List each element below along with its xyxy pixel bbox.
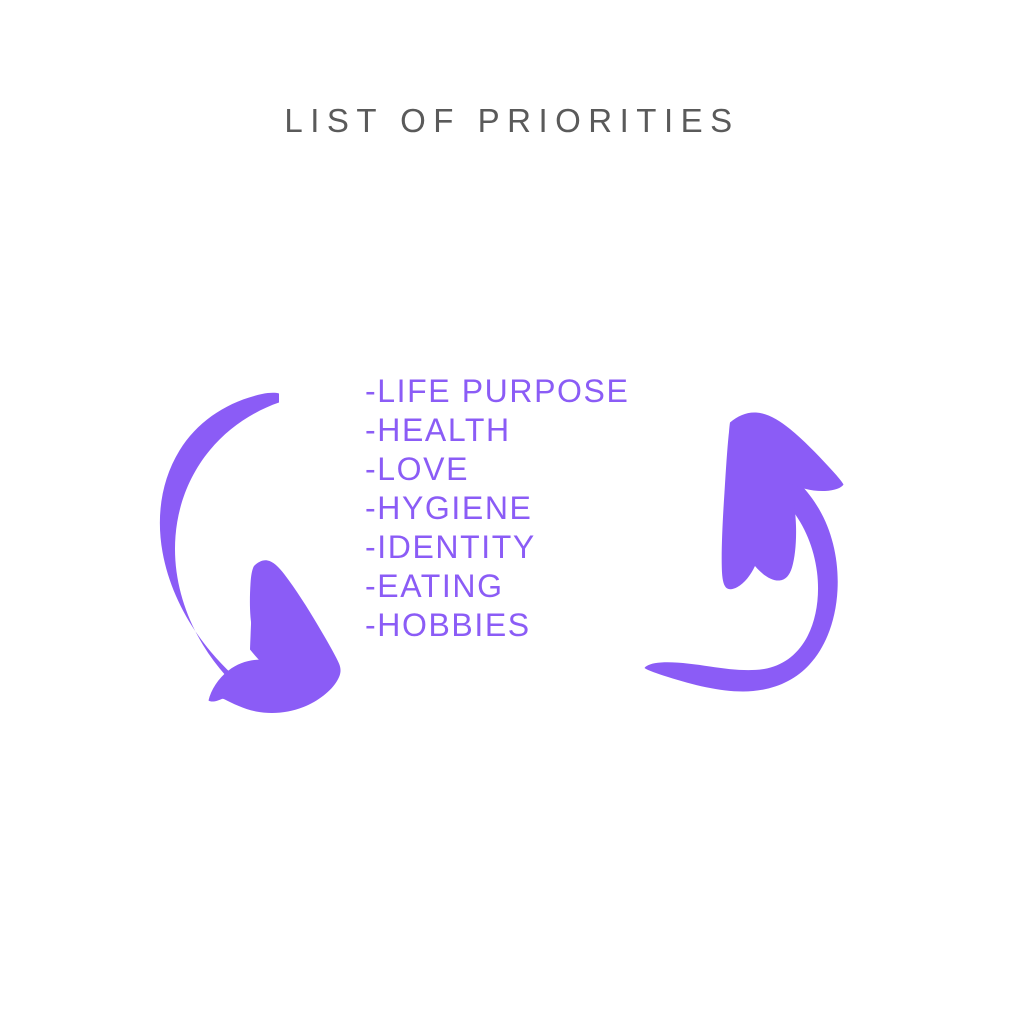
list-item: -LOVE	[365, 450, 629, 489]
list-item-label: LIFE PURPOSE	[377, 373, 629, 409]
list-item: -LIFE PURPOSE	[365, 372, 629, 411]
curved-arrow-up-right-icon	[630, 400, 860, 700]
list-item: -IDENTITY	[365, 528, 629, 567]
list-item-dash: -	[365, 529, 377, 565]
list-item-dash: -	[365, 607, 377, 643]
list-item: -HOBBIES	[365, 606, 629, 645]
list-item: -EATING	[365, 567, 629, 606]
list-item-label: IDENTITY	[377, 529, 536, 565]
list-item: -HYGIENE	[365, 489, 629, 528]
list-item: -HEALTH	[365, 411, 629, 450]
list-item-dash: -	[365, 568, 377, 604]
list-item-dash: -	[365, 373, 377, 409]
curved-arrow-down-left-icon	[150, 380, 370, 720]
list-item-label: EATING	[377, 568, 503, 604]
priority-list: -LIFE PURPOSE -HEALTH -LOVE -HYGIENE -ID…	[365, 372, 629, 645]
list-item-label: LOVE	[377, 451, 469, 487]
list-item-label: HYGIENE	[377, 490, 532, 526]
list-item-label: HEALTH	[377, 412, 510, 448]
list-item-dash: -	[365, 451, 377, 487]
list-item-label: HOBBIES	[377, 607, 530, 643]
list-item-dash: -	[365, 490, 377, 526]
list-item-dash: -	[365, 412, 377, 448]
poster-canvas: LIST OF PRIORITIES -LIFE PURPOSE -HEALTH…	[0, 0, 1024, 1024]
page-title: LIST OF PRIORITIES	[0, 100, 1024, 142]
